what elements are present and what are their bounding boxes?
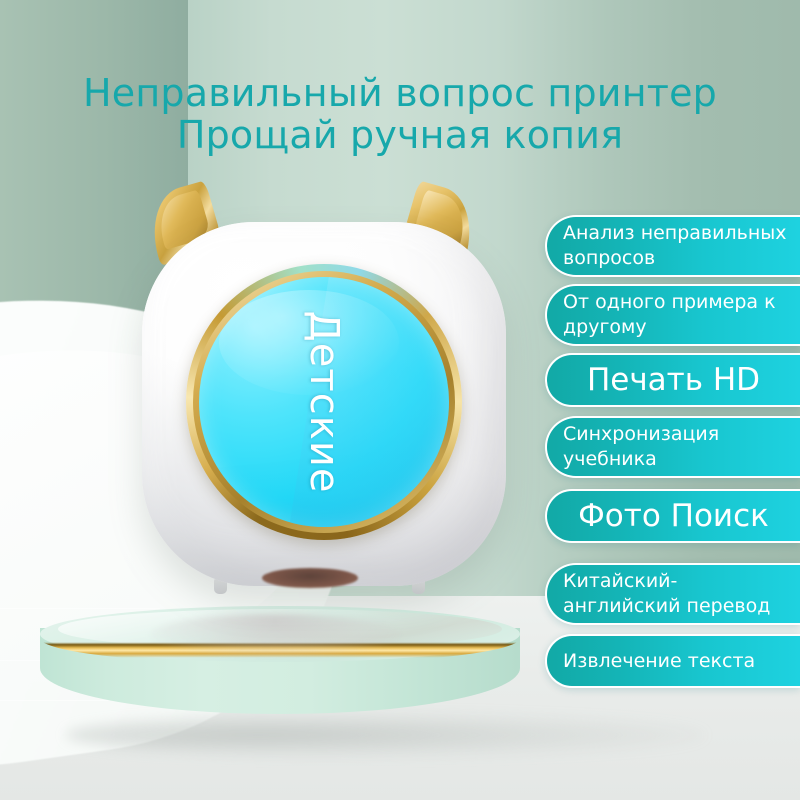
feature-badge[interactable]: Китайский-английский перевод [545,563,800,625]
feature-badge-label: Печать HD [587,361,760,399]
headline: Неправильный вопрос принтер Прощай ручна… [0,72,800,156]
feature-badge-label: Извлечение текста [563,649,755,674]
feature-badge[interactable]: Извлечение текста [545,634,800,688]
screen-label: Детские [301,311,347,494]
feature-badge[interactable]: Синхронизация учебника [545,416,800,478]
feature-badge-label: Китайский-английский перевод [563,569,794,619]
feature-badge[interactable]: Печать HD [545,353,800,407]
feature-badge[interactable]: Фото Поиск [545,489,800,543]
device-reflection [150,614,400,656]
feature-badge-label: Фото Поиск [578,497,769,535]
paper-slot [262,568,358,588]
headline-line-2: Прощай ручная копия [0,114,800,156]
feature-badge-label: Анализ неправильных вопросов [563,221,794,271]
product-promo-banner: Детские Неправильный вопрос принтер Прощ… [0,0,800,800]
product-device: Детские [124,186,524,606]
screen-gold-ring: Детские [186,264,462,540]
headline-line-1: Неправильный вопрос принтер [83,71,717,115]
feature-badge-label: От одного примера к другому [563,290,794,340]
feature-badge-label: Синхронизация учебника [563,422,794,472]
feature-badge[interactable]: От одного примера к другому [545,284,800,346]
feature-badge[interactable]: Анализ неправильных вопросов [545,215,800,277]
device-screen: Детские [199,277,449,527]
